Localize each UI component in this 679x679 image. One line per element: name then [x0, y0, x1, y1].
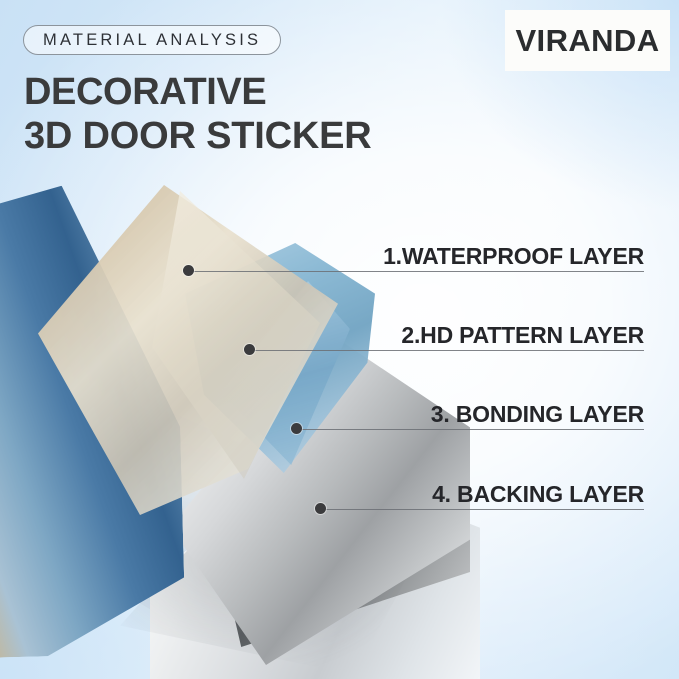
- page-title: DECORATIVE 3D DOOR STICKER: [24, 70, 371, 158]
- callout-rule-1: [194, 271, 644, 272]
- brand-logo-box: VIRANDA: [505, 10, 670, 71]
- headline-line-2: 3D DOOR STICKER: [24, 114, 371, 158]
- callout-dot-3: [291, 423, 302, 434]
- callout-dot-2: [244, 344, 255, 355]
- headline-line-1: DECORATIVE: [24, 70, 371, 114]
- callout-dot-4: [315, 503, 326, 514]
- callout-rule-2: [255, 350, 644, 351]
- callout-rule-4: [326, 509, 644, 510]
- material-analysis-badge: MATERIAL ANALYSIS: [23, 25, 281, 55]
- callout-rule-3: [302, 429, 644, 430]
- brand-logo-text: VIRANDA: [515, 23, 659, 59]
- badge-label: MATERIAL ANALYSIS: [43, 31, 261, 50]
- callout-label-3: 3. BONDING LAYER: [431, 401, 644, 428]
- callout-label-2: 2.HD PATTERN LAYER: [401, 322, 644, 349]
- callout-label-1: 1.WATERPROOF LAYER: [383, 243, 644, 270]
- callout-label-4: 4. BACKING LAYER: [432, 481, 644, 508]
- callout-dot-1: [183, 265, 194, 276]
- poster-root: MATERIAL ANALYSIS DECORATIVE 3D DOOR STI…: [0, 0, 679, 679]
